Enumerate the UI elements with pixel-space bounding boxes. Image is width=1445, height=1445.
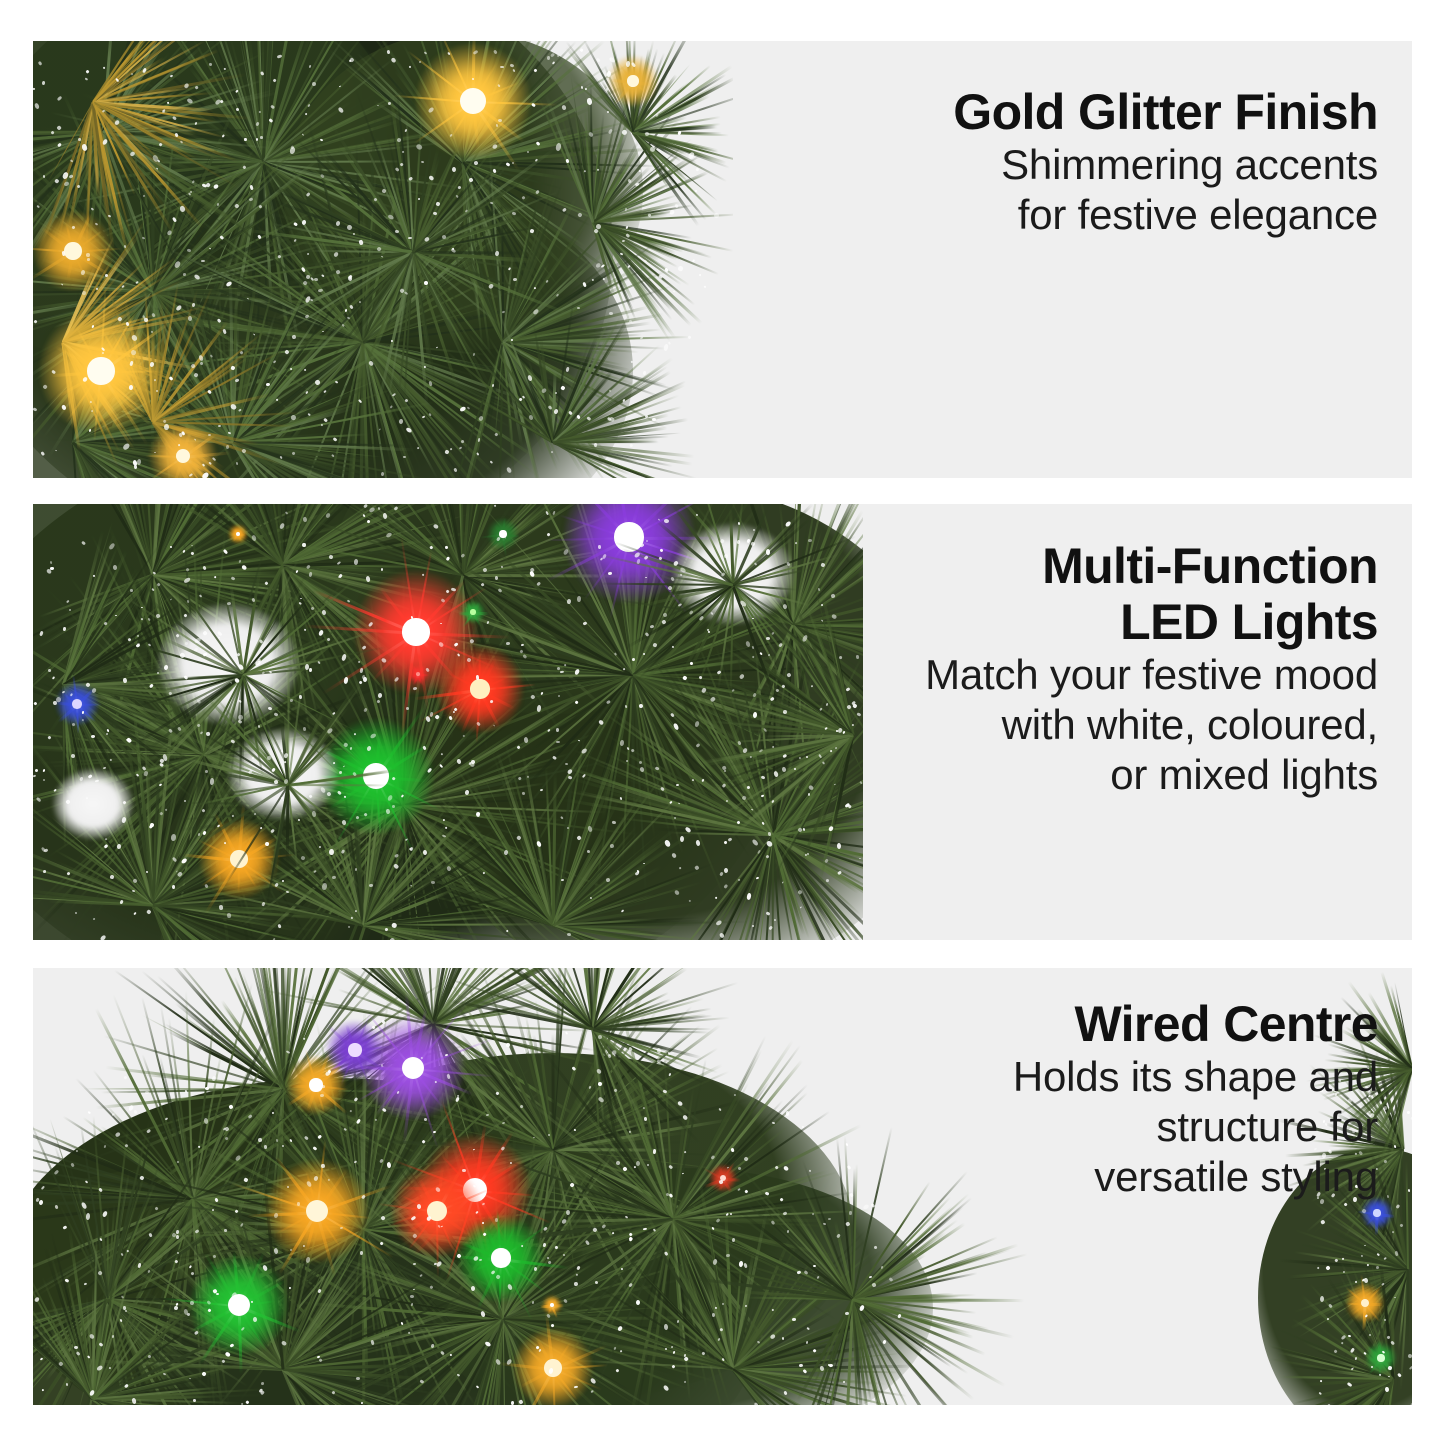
led-bulb-core [72,699,82,709]
glitter-speckle [594,443,597,447]
glitter-speckle [290,1249,292,1252]
glitter-speckle [166,101,168,103]
glitter-speckle [170,834,176,842]
glitter-speckle [188,316,192,321]
glitter-speckle [714,1307,717,1309]
glitter-speckle [596,57,601,62]
led-bulb-core [491,1248,510,1267]
glitter-speckle [692,259,695,262]
glitter-speckle [612,821,616,824]
glitter-speckle [204,1087,208,1090]
glitter-speckle [713,212,719,218]
glitter-speckle [639,336,642,339]
led-bulb-core [470,679,489,698]
glitter-speckle [176,1251,179,1253]
infographic-sheet: Gold Glitter Finish Shimmering accents f… [0,0,1445,1445]
glitter-speckle [280,749,283,752]
glitter-speckle [253,1317,257,1322]
glitter-speckle [54,1204,58,1208]
glitter-speckle [683,1150,686,1153]
glitter-speckle [817,587,820,591]
glitter-speckle [565,763,568,766]
glitter-speckle [329,848,334,854]
glitter-speckle [356,1376,360,1379]
glitter-speckle [440,623,442,624]
panel-title: Wired Centre [1013,996,1378,1052]
glitter-speckle [1406,1111,1410,1115]
glitter-speckle [577,595,581,601]
glitter-speckle [388,102,391,105]
glitter-speckle [212,1209,214,1211]
glitter-speckle [43,870,46,874]
panel-title: Gold Glitter Finish [953,84,1378,140]
panel-title: Multi-Function LED Lights [925,538,1378,650]
feature-panel-wired-centre: Wired Centre Holds its shape and structu… [33,968,1412,1405]
glitter-speckle [1410,1117,1412,1121]
glitter-speckle [272,1111,274,1114]
glitter-speckle [303,629,305,631]
glitter-speckle [134,1109,138,1114]
glitter-speckle [81,711,83,714]
glitter-speckle [711,1227,714,1230]
glitter-speckle [1384,1386,1388,1391]
glitter-speckle [768,653,771,655]
glitter-speckle [1391,1230,1394,1233]
led-bulb-core [87,357,114,384]
glitter-speckle [413,1262,417,1264]
glitter-speckle [343,1128,346,1131]
glitter-speckle [771,1122,775,1125]
glitter-speckle [746,538,750,543]
glitter-speckle [424,281,428,285]
led-bulb-core [1377,1354,1384,1361]
glitter-speckle [1342,1271,1344,1273]
glitter-speckle [219,904,224,909]
glitter-speckle [664,1324,668,1330]
product-photo-gold-glitter [33,41,733,478]
feature-text-block-3: Wired Centre Holds its shape and structu… [1013,996,1378,1202]
glitter-speckle [668,341,671,344]
glitter-speckle [185,1089,188,1092]
glitter-speckle [50,566,54,569]
glitter-speckle [664,1348,666,1350]
feature-text-block-2: Multi-Function LED Lights Match your fes… [925,538,1378,800]
glitter-speckle [859,858,861,859]
glitter-speckle [366,519,370,523]
glitter-speckle [696,168,700,172]
glitter-speckle [358,239,363,244]
glitter-speckle [826,878,829,881]
glitter-speckle [203,1118,208,1124]
glitter-speckle [675,783,679,786]
glitter-speckle [766,637,770,640]
glitter-speckle [258,724,260,727]
glitter-speckle [267,756,271,760]
glitter-speckle [631,360,634,363]
glitter-speckle [533,1267,536,1271]
glitter-speckle [311,811,316,817]
feature-text-block-1: Gold Glitter Finish Shimmering accents f… [953,84,1378,240]
glitter-speckle [563,1253,565,1255]
glitter-speckle [341,819,346,825]
glitter-speckle [184,799,186,801]
glitter-speckle [406,707,409,710]
glitter-speckle [275,1139,278,1142]
panel-subtitle: Holds its shape and structure for versat… [1013,1052,1378,1202]
glitter-speckle [205,770,208,773]
glitter-speckle [156,672,158,674]
panel-subtitle: Shimmering accents for festive elegance [953,140,1378,240]
glitter-speckle [724,868,728,873]
glitter-speckle [510,339,512,341]
glitter-speckle [423,849,428,854]
glitter-speckle [579,49,583,53]
glitter-speckle [355,815,359,819]
glitter-speckle [1387,1365,1391,1370]
led-bulb-core [460,88,486,114]
glitter-speckle [636,558,640,563]
glitter-speckle [695,189,697,191]
glitter-speckle [645,132,649,136]
glitter-speckle [811,1212,814,1215]
glitter-speckle [338,576,341,578]
glitter-speckle [607,571,611,575]
feature-panel-gold-glitter-finish: Gold Glitter Finish Shimmering accents f… [33,41,1412,478]
glitter-speckle [699,274,702,277]
glitter-speckle [1354,1357,1356,1360]
glitter-speckle [609,843,614,848]
glitter-speckle [303,727,306,731]
glitter-speckle [261,902,265,906]
glitter-speckle [282,1145,284,1147]
glitter-speckle [291,334,296,339]
glitter-speckle [791,1318,796,1321]
glitter-speckle [573,1129,575,1131]
glitter-speckle [105,273,108,276]
glitter-speckle [306,253,309,256]
glitter-speckle [382,512,387,519]
glitter-speckle [377,104,379,105]
glitter-speckle [546,56,549,60]
glitter-speckle [687,335,691,339]
glitter-speckle [298,695,301,699]
glitter-speckle [848,1211,851,1215]
glitter-speckle [129,385,133,390]
glitter-speckle [297,1201,301,1205]
glitter-speckle [260,136,263,139]
glitter-speckle [88,1111,92,1114]
glitter-speckle [639,761,642,764]
led-bulb-core [627,75,638,86]
glitter-speckle [365,576,370,582]
glitter-speckle [597,1034,602,1038]
glitter-speckle [260,1382,263,1386]
glitter-speckle [632,658,635,661]
glitter-speckle [690,661,693,665]
glitter-speckle [672,290,674,292]
glitter-speckle [614,652,617,656]
glitter-speckle [431,881,435,884]
glitter-speckle [226,912,231,917]
glitter-speckle [466,657,471,662]
led-bulb-core [64,242,82,260]
glitter-speckle [761,794,764,796]
glitter-speckle [314,278,318,281]
glitter-speckle [556,728,559,732]
backlight-gap [53,769,133,839]
glitter-speckle [298,601,301,604]
glitter-speckle [272,938,275,940]
glitter-speckle [403,456,406,458]
glitter-speckle [322,331,324,332]
glitter-speckle [663,344,669,351]
glitter-speckle [145,1091,149,1094]
glitter-speckle [444,826,446,828]
feature-panel-multi-function-led-lights: Multi-Function LED Lights Match your fes… [33,504,1412,940]
glitter-speckle [737,878,739,880]
panel-subtitle: Match your festive mood with white, colo… [925,650,1378,800]
glitter-speckle [142,195,144,197]
glitter-speckle [564,1031,568,1035]
glitter-speckle [1348,1335,1351,1338]
glitter-speckle [205,732,209,736]
glitter-speckle [703,285,706,288]
glitter-speckle [630,443,634,447]
glitter-speckle [805,756,807,758]
led-bulb-core [309,1078,322,1091]
glitter-speckle [680,836,684,842]
glitter-speckle [339,771,342,774]
glitter-speckle [558,694,560,697]
glitter-speckle [495,1218,498,1222]
glitter-speckle [712,1313,715,1317]
glitter-speckle [837,843,841,849]
glitter-speckle [90,735,94,738]
glitter-speckle [144,317,149,321]
glitter-speckle [124,245,127,248]
glitter-speckle [1369,1334,1371,1336]
glitter-speckle [441,234,446,239]
glitter-speckle [695,840,700,847]
glitter-speckle [523,737,528,743]
glitter-speckle [141,236,144,239]
glitter-speckle [176,1235,179,1239]
glitter-speckle [63,627,66,631]
glitter-speckle [1364,1244,1366,1246]
led-bulb-core [348,1043,361,1056]
glitter-speckle [786,1111,789,1116]
glitter-speckle [730,1212,732,1214]
glitter-speckle [664,518,669,522]
glitter-speckle [258,1137,262,1141]
glitter-speckle [92,574,94,576]
glitter-speckle [209,778,214,785]
led-bulb-core [470,609,475,614]
glitter-speckle [392,805,395,808]
glitter-speckle [119,1319,122,1322]
glitter-speckle [208,434,211,436]
glitter-speckle [298,819,300,821]
glitter-speckle [1410,1403,1412,1405]
glitter-speckle [228,1104,233,1109]
led-bulb-core [402,618,429,645]
glitter-speckle [77,138,80,141]
glitter-speckle [48,668,52,671]
glitter-speckle [86,253,90,257]
glitter-speckle [529,228,534,233]
glitter-speckle [102,352,104,354]
glitter-speckle [360,1251,363,1255]
glitter-speckle [124,1075,128,1079]
led-bulb-core [1373,1209,1380,1216]
glitter-speckle [183,273,187,276]
product-photo-led-lights [33,504,863,940]
glitter-speckle [677,266,683,273]
glitter-speckle [455,194,458,197]
glitter-speckle [191,544,193,546]
